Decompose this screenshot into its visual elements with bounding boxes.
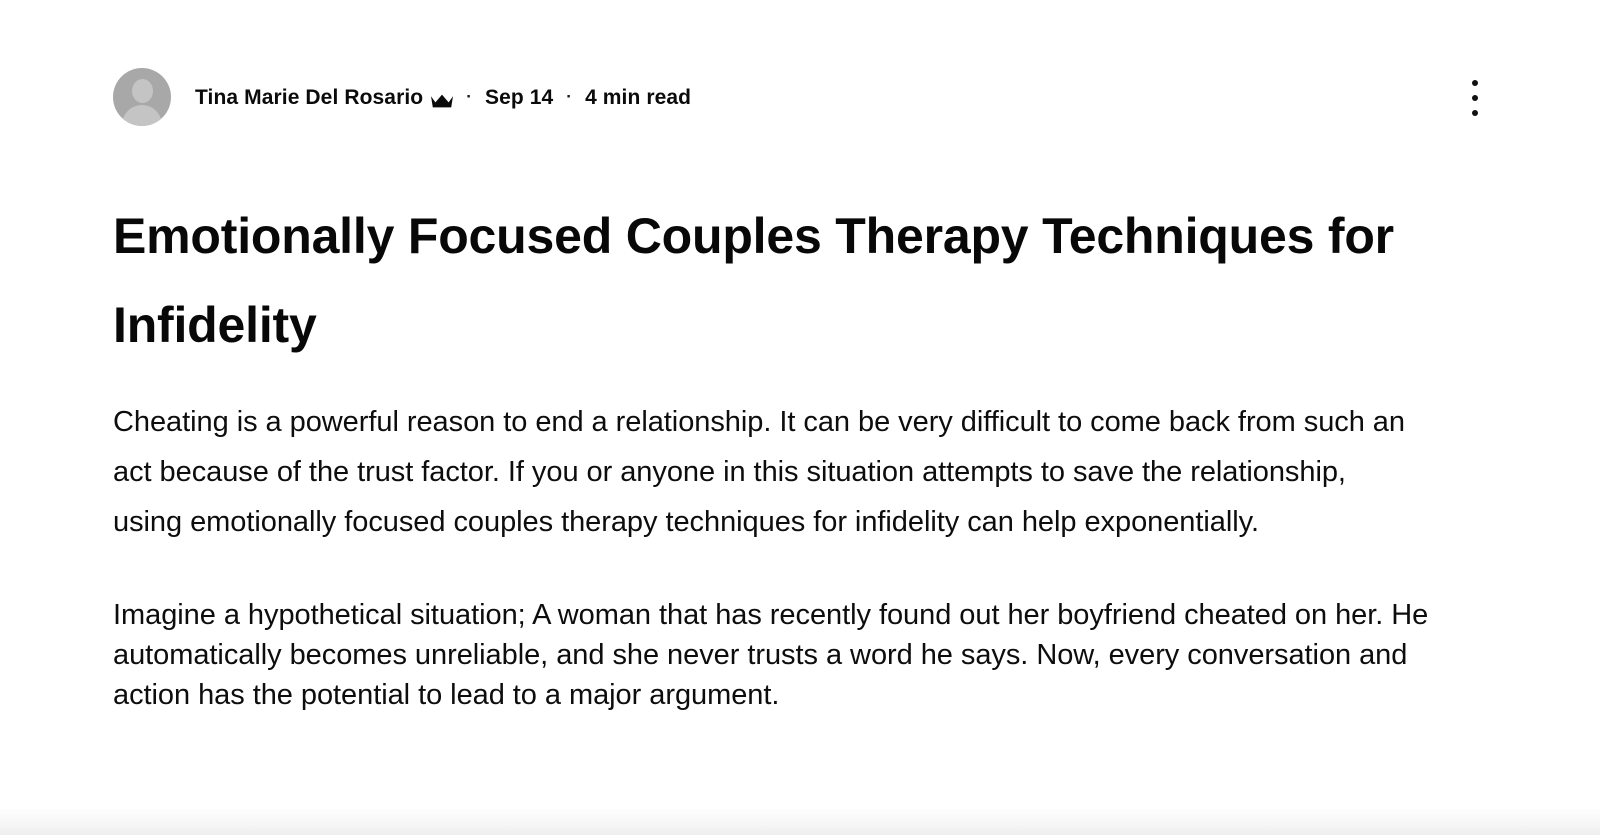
article-body: Cheating is a powerful reason to end a r…	[113, 398, 1433, 715]
kebab-dot-3	[1472, 110, 1478, 116]
article-page: Tina Marie Del Rosario · Sep 14 · 4 min …	[0, 0, 1600, 835]
article-paragraph: Imagine a hypothetical situation; A woma…	[113, 595, 1443, 715]
article-paragraph: Cheating is a powerful reason to end a r…	[113, 398, 1413, 548]
kebab-dot-1	[1472, 80, 1478, 86]
page-title: Emotionally Focused Couples Therapy Tech…	[113, 192, 1433, 369]
crown-icon	[431, 91, 453, 105]
page-fold-shadow	[0, 807, 1600, 835]
user-avatar-placeholder-icon[interactable]	[113, 68, 171, 126]
publish-date: Sep 14	[485, 87, 553, 108]
read-time: 4 min read	[585, 87, 691, 108]
byline-meta: Tina Marie Del Rosario · Sep 14 · 4 min …	[195, 87, 691, 108]
byline-separator-2: ·	[566, 88, 572, 105]
article-byline: Tina Marie Del Rosario · Sep 14 · 4 min …	[113, 68, 1487, 126]
kebab-menu-icon[interactable]	[1462, 80, 1488, 116]
kebab-dot-2	[1472, 95, 1478, 101]
byline-separator-1: ·	[466, 88, 472, 105]
author-name[interactable]: Tina Marie Del Rosario	[195, 87, 423, 108]
